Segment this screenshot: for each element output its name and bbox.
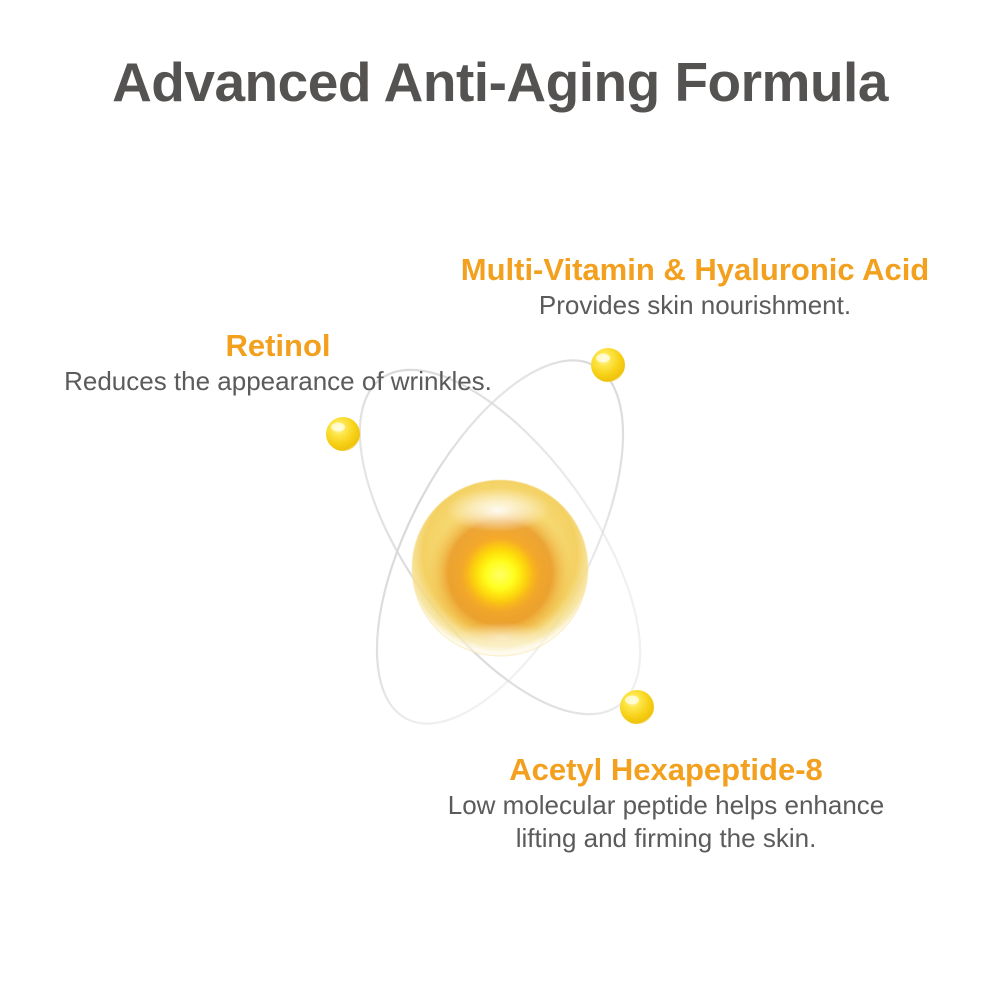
callout-description-multi-vitamin: Provides skin nourishment. [400,289,990,323]
page-title: Advanced Anti-Aging Formula [0,52,1000,113]
callout-acetyl-hexapeptide-8: Acetyl Hexapeptide-8 Low molecular pepti… [396,752,936,856]
callout-multi-vitamin: Multi-Vitamin & Hyaluronic Acid Provides… [400,252,990,322]
electron-bottom-right [620,690,654,724]
electron-left [326,417,360,451]
callout-retinol: Retinol Reduces the appearance of wrinkl… [18,328,538,398]
callout-description-acetyl-hexapeptide-8-line-2: lifting and firming the skin. [396,822,936,856]
callout-heading-multi-vitamin: Multi-Vitamin & Hyaluronic Acid [400,252,990,289]
nucleus-highlight [446,488,550,532]
callout-description-acetyl-hexapeptide-8-line-1: Low molecular peptide helps enhance [396,789,936,823]
electron-top-right [591,348,625,382]
callout-heading-acetyl-hexapeptide-8: Acetyl Hexapeptide-8 [396,752,936,789]
callout-description-retinol: Reduces the appearance of wrinkles. [18,365,538,399]
infographic-page: Advanced Anti-Aging Formula [0,0,1000,1000]
nucleus-sphere [412,480,588,656]
callout-heading-retinol: Retinol [18,328,538,365]
